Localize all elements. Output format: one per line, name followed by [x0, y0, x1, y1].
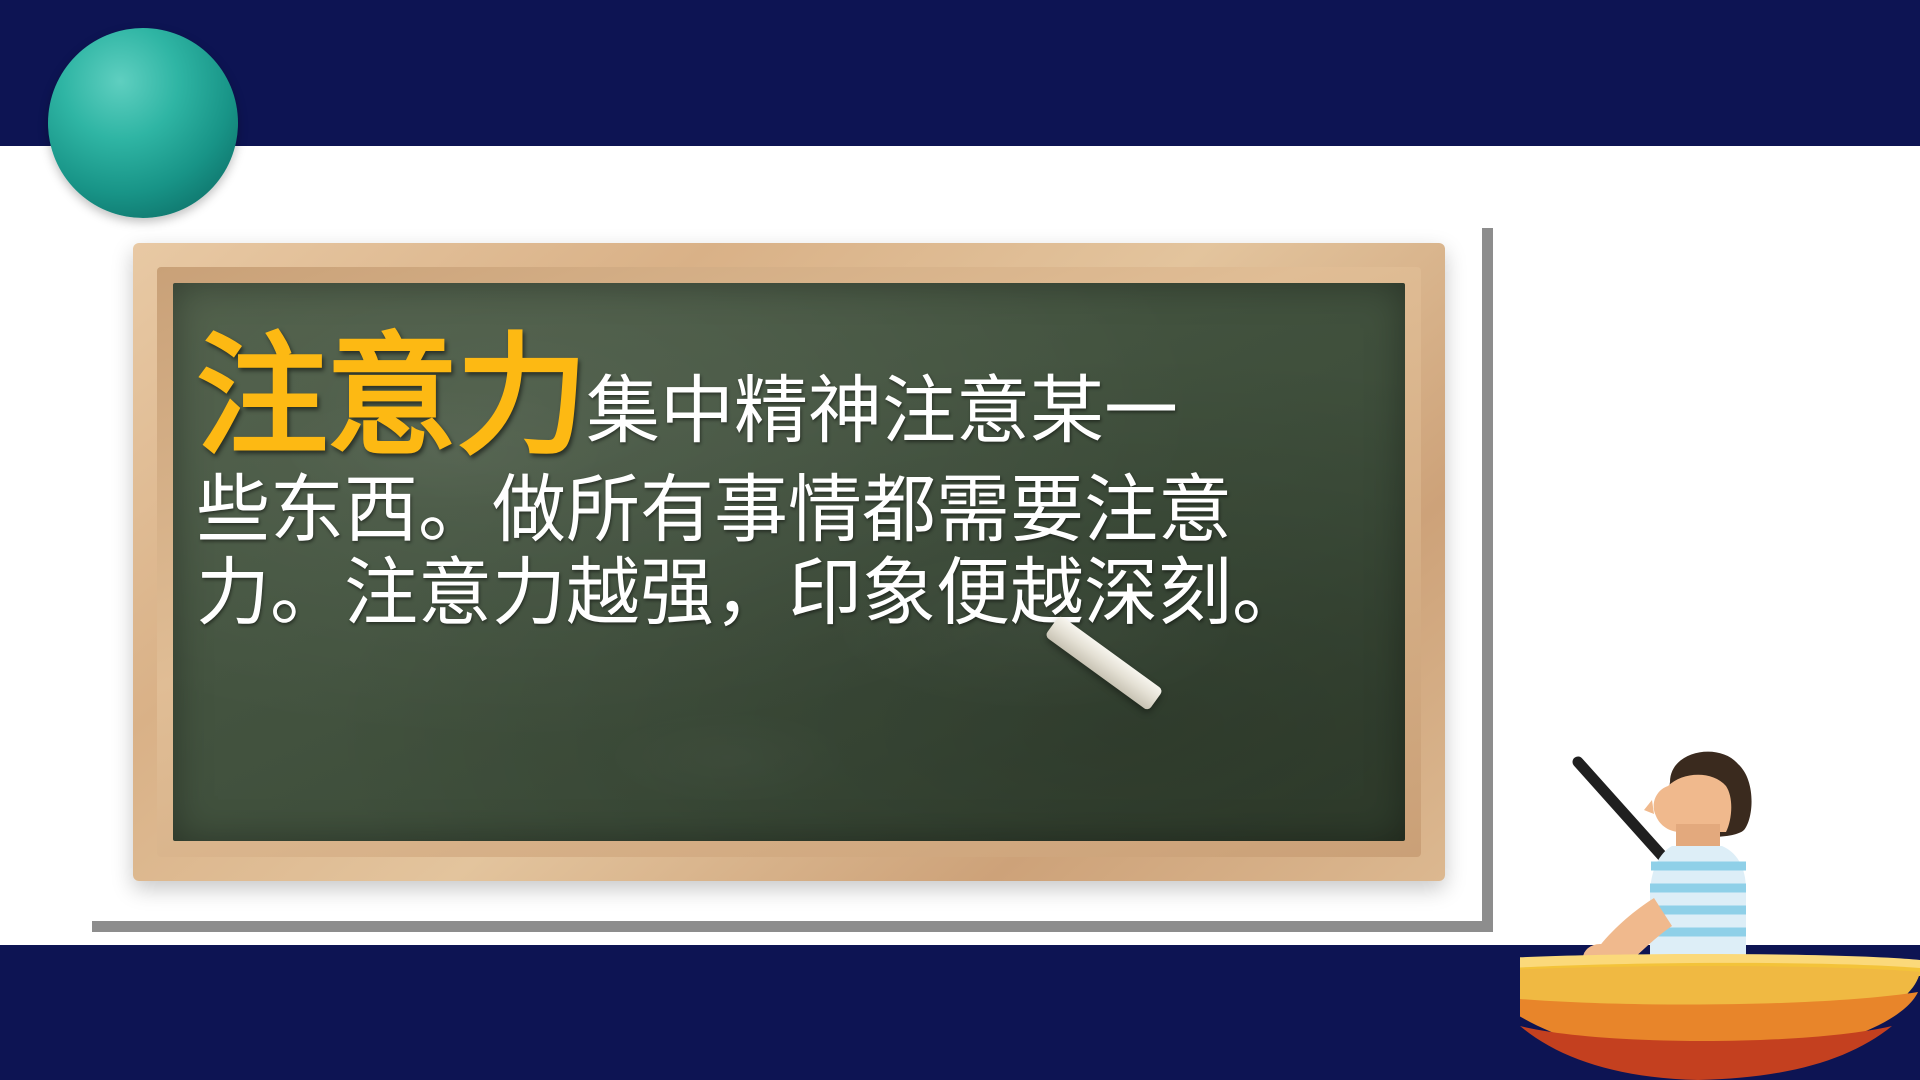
horizontal-divider-rule — [92, 921, 1493, 932]
headword-title: 注意力 — [196, 319, 586, 474]
vertical-divider-rule — [1482, 228, 1493, 932]
blackboard-text-block: 注意力集中精神注意某一 些东西。做所有事情都需要注意 力。注意力越强，印象便越深… — [196, 330, 1366, 640]
boy-in-kayak-illustration — [1520, 720, 1920, 1080]
kayak-hull — [1520, 954, 1920, 1080]
text-line-1-body: 集中精神注意某一 — [586, 368, 1178, 454]
top-banner-bar — [0, 0, 1920, 146]
teal-sphere-icon — [48, 28, 238, 218]
text-line-2: 些东西。做所有事情都需要注意 — [196, 473, 1366, 548]
text-line-3: 力。注意力越强，印象便越深刻。 — [196, 556, 1366, 631]
presentation-slide: 注意力集中精神注意某一 些东西。做所有事情都需要注意 力。注意力越强，印象便越深… — [0, 0, 1920, 1080]
boy-figure — [1583, 752, 1752, 972]
text-line-1: 注意力集中精神注意某一 — [196, 330, 1366, 465]
